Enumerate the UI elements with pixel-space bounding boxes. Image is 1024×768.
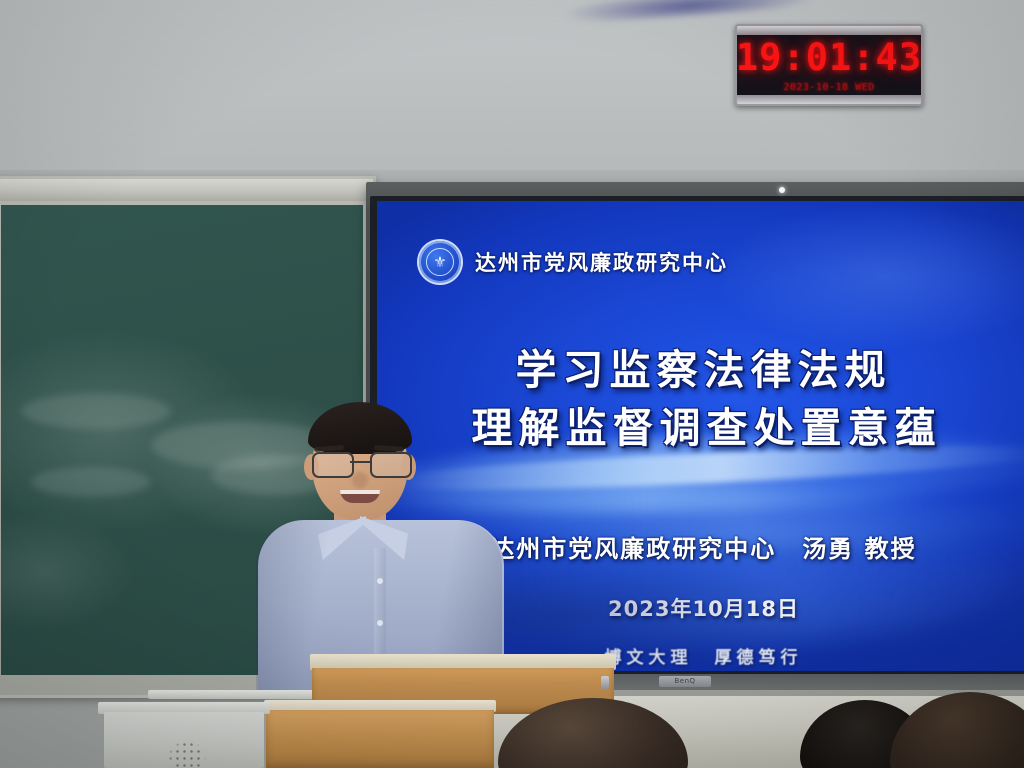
lectern-knob bbox=[601, 676, 609, 690]
shirt-button bbox=[377, 578, 383, 584]
chalk-smear bbox=[31, 467, 151, 497]
slide-title-line-1: 学习监察法律法规 bbox=[377, 341, 1024, 399]
clock-date-display: 2023-10-18 WED bbox=[737, 79, 921, 95]
organization-name: 达州市党风廉政研究中心 bbox=[475, 247, 728, 277]
presenter-person bbox=[256, 398, 506, 698]
glasses-lens-right bbox=[370, 452, 412, 478]
emblem-inner-mark: ⚜ bbox=[426, 248, 454, 276]
speaker-grille-icon bbox=[160, 734, 214, 768]
institute-emblem-icon: ⚜ bbox=[419, 241, 461, 283]
display-brand-badge: BenQ bbox=[659, 676, 711, 687]
lecture-hall-photo: 19:01:43 2023-10-18 WED ⚜ bbox=[0, 0, 1024, 768]
digital-wall-clock: 19:01:43 2023-10-18 WED bbox=[735, 24, 923, 106]
shirt-button bbox=[377, 620, 383, 626]
power-led-icon bbox=[779, 187, 785, 193]
clock-time-display: 19:01:43 bbox=[737, 35, 921, 79]
chalk-smear bbox=[21, 393, 171, 429]
chalkboard-tray bbox=[0, 179, 373, 201]
slide-header: ⚜ 达州市党风廉政研究中心 bbox=[419, 241, 728, 283]
wooden-lectern bbox=[266, 710, 494, 768]
podium-speaker-cabinet bbox=[104, 712, 264, 768]
presenter-nose bbox=[352, 472, 368, 488]
glasses-bridge bbox=[350, 461, 370, 463]
glasses-lens-left bbox=[312, 452, 354, 478]
wall-smudge bbox=[559, 0, 820, 25]
